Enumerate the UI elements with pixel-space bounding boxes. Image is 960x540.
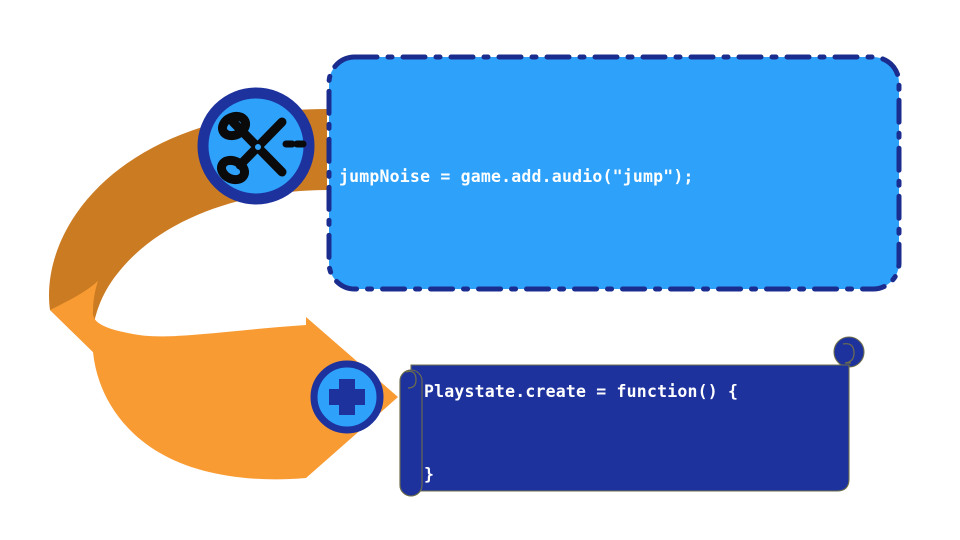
scissors-icon-badge[interactable] bbox=[203, 93, 309, 199]
plus-icon-badge[interactable] bbox=[314, 364, 380, 430]
diagram-canvas: jumpNoise = game.add.audio("jump"); Play… bbox=[0, 0, 960, 540]
scissors-icon-pivot bbox=[254, 143, 263, 152]
icon-badges bbox=[0, 0, 960, 540]
